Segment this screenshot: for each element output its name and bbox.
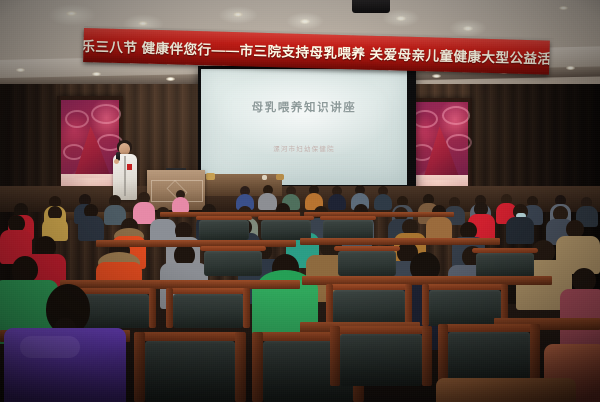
audience-member: [328, 186, 346, 208]
auditorium-seat: [472, 248, 538, 278]
flower-arrangement: [276, 174, 284, 180]
speaker-hand: [114, 159, 119, 164]
foreground-audience-member-purple-jacket: [4, 284, 126, 402]
slide-title: 母乳喂养知识讲座: [201, 99, 407, 115]
auditorium-seat-empty: [330, 326, 432, 386]
coat-seam: [124, 156, 126, 196]
audience-member: [42, 206, 68, 238]
downlight: [92, 72, 101, 76]
auditorium-seat: [334, 246, 400, 276]
auditorium-seat: [258, 216, 314, 240]
audience-member: [560, 268, 600, 344]
audience-member-with-mask: [506, 204, 534, 242]
downlight: [66, 11, 77, 16]
auditorium-seat: [320, 216, 376, 240]
audience-member: [374, 186, 392, 208]
slide-subtitle: 漯河市妇幼保健院: [201, 143, 407, 153]
auditorium-seat-empty: [134, 332, 246, 402]
speaker-badge: [127, 164, 132, 170]
seat-row-desk: [96, 240, 296, 247]
auditorium-seat: [200, 246, 266, 276]
jacket-hood: [20, 336, 80, 358]
cup: [262, 175, 267, 180]
audience-member: [426, 205, 452, 239]
foreground-blur-object: [436, 378, 576, 402]
ceiling-light-glow: [286, 12, 324, 30]
downlight: [138, 21, 148, 26]
auditorium-seat: [326, 284, 412, 326]
auditorium-seat-empty: [438, 324, 540, 386]
ceiling-light-glow: [449, 19, 487, 37]
downlight: [16, 68, 25, 72]
downlight: [233, 12, 243, 17]
auditorium-seat: [166, 288, 250, 328]
downlight: [559, 6, 568, 10]
downlight: [432, 74, 441, 78]
photo-scene: 母乳喂养知识讲座 漯河市妇幼保健院 快乐三八节 健康伴您行——市三院支持母乳喂养…: [0, 0, 600, 402]
ceiling-projector-icon: [352, 0, 390, 13]
screen-glow: [201, 69, 407, 185]
audience-member: [78, 204, 104, 238]
audience-member: [305, 185, 323, 208]
auditorium-seat: [196, 216, 252, 240]
projection-screen: 母乳喂养知识讲座 漯河市妇幼保健院: [201, 69, 407, 185]
downlight: [566, 66, 575, 70]
seat-row-desk: [300, 238, 500, 245]
downlight: [166, 77, 175, 81]
flower-arrangement: [206, 173, 215, 180]
audience-member: [236, 186, 254, 208]
